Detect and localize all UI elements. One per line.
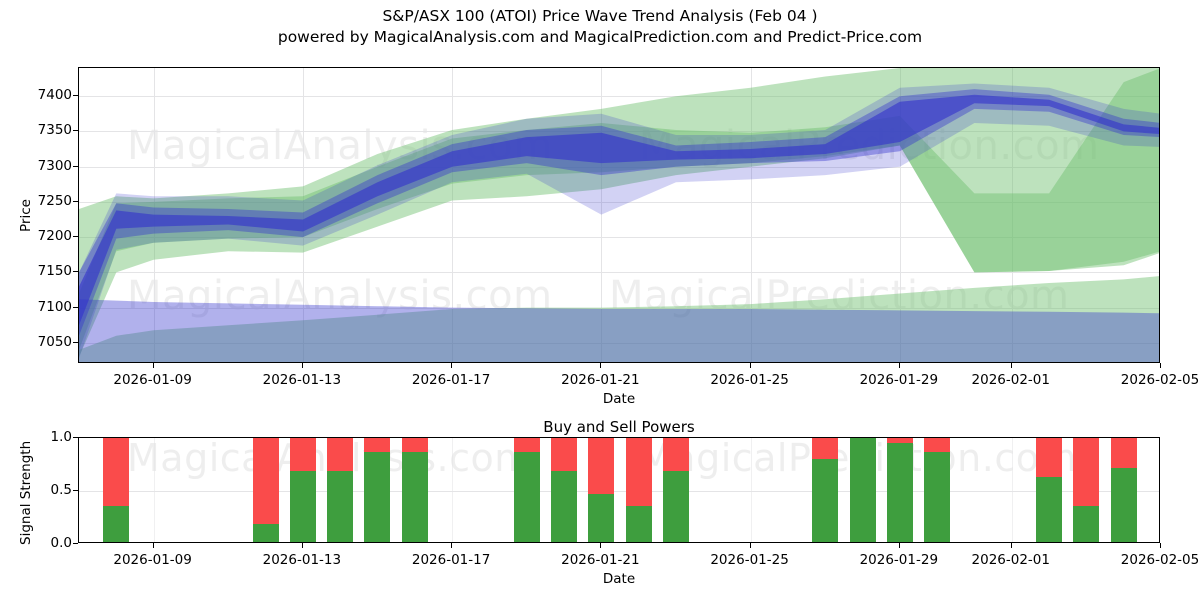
signal-bar[interactable] — [1073, 437, 1099, 542]
buy-power-segment — [1111, 468, 1137, 542]
sell-power-segment — [253, 437, 279, 524]
price-x-axis-label: Date — [603, 391, 635, 407]
buy-sell-y-tick-mark — [73, 543, 78, 544]
buy-power-segment — [663, 471, 689, 542]
signal-bar[interactable] — [588, 437, 614, 542]
price-x-tick-mark — [750, 363, 751, 368]
price-y-tick-mark — [73, 236, 78, 237]
buy-sell-x-tick-label: 2026-01-09 — [113, 552, 191, 568]
price-y-tick-mark — [73, 95, 78, 96]
price-x-tick-label: 2026-02-05 — [1121, 372, 1199, 388]
buy-power-segment — [290, 471, 316, 542]
buy-power-segment — [588, 494, 614, 542]
sell-power-segment — [364, 437, 390, 452]
buy-sell-x-tick-label: 2026-01-29 — [860, 552, 938, 568]
signal-bar[interactable] — [887, 437, 913, 542]
buy-power-segment — [103, 506, 129, 542]
buy-sell-vgridline — [1012, 438, 1013, 542]
price-x-tick-label: 2026-01-17 — [412, 372, 490, 388]
buy-power-segment — [924, 452, 950, 542]
buy-sell-x-tick-mark — [750, 543, 751, 548]
price-x-tick-label: 2026-02-01 — [972, 372, 1050, 388]
sell-power-segment — [514, 437, 540, 452]
signal-bar[interactable] — [402, 437, 428, 542]
signal-bar[interactable] — [1036, 437, 1062, 542]
buy-sell-x-axis-label: Date — [603, 571, 635, 587]
buy-sell-plot-frame: MagicalAnalysis.com MagicalPrediction.co… — [78, 437, 1160, 543]
sell-power-segment — [663, 437, 689, 471]
buy-sell-x-tick-mark — [451, 543, 452, 548]
price-x-tick-label: 2026-01-09 — [113, 372, 191, 388]
buy-sell-y-tick-mark — [73, 437, 78, 438]
signal-bar[interactable] — [812, 437, 838, 542]
buy-sell-y-tick-label: 1.0 — [51, 429, 72, 445]
price-x-tick-mark — [153, 363, 154, 368]
signal-bar[interactable] — [924, 437, 950, 542]
price-x-tick-label: 2026-01-13 — [263, 372, 341, 388]
buy-power-segment — [402, 452, 428, 542]
title-line-2: powered by MagicalAnalysis.com and Magic… — [0, 27, 1200, 48]
signal-bar[interactable] — [327, 437, 353, 542]
price-y-tick-mark — [73, 201, 78, 202]
signal-bar[interactable] — [626, 437, 652, 542]
buy-sell-x-tick-label: 2026-01-25 — [710, 552, 788, 568]
buy-sell-x-tick-mark — [153, 543, 154, 548]
price-x-tick-mark — [302, 363, 303, 368]
signal-bar[interactable] — [103, 437, 129, 542]
price-plot-frame: MagicalAnalysis.com MagicalPrediction.co… — [78, 67, 1160, 363]
sell-power-segment — [290, 437, 316, 471]
price-y-tick-label: 7050 — [38, 334, 72, 350]
price-y-tick-label: 7250 — [38, 193, 72, 209]
sell-power-segment — [626, 437, 652, 506]
sell-power-segment — [327, 437, 353, 471]
signal-bar[interactable] — [364, 437, 390, 542]
buy-sell-x-tick-mark — [899, 543, 900, 548]
signal-bar[interactable] — [514, 437, 540, 542]
buy-sell-y-tick-label: 0.5 — [51, 482, 72, 498]
buy-sell-x-tick-mark — [1160, 543, 1161, 548]
price-y-tick-mark — [73, 130, 78, 131]
buy-sell-x-tick-label: 2026-01-13 — [263, 552, 341, 568]
buy-power-segment — [887, 443, 913, 542]
price-y-tick-label: 7100 — [38, 299, 72, 315]
price-x-tick-mark — [1011, 363, 1012, 368]
buy-power-segment — [364, 452, 390, 542]
price-y-tick-label: 7150 — [38, 263, 72, 279]
price-x-tick-label: 2026-01-21 — [561, 372, 639, 388]
buy-sell-vgridline — [154, 438, 155, 542]
buy-sell-y-tick-mark — [73, 490, 78, 491]
buy-sell-vgridline — [751, 438, 752, 542]
price-y-tick-mark — [73, 271, 78, 272]
buy-sell-vgridline — [452, 438, 453, 542]
buy-sell-x-tick-mark — [302, 543, 303, 548]
signal-bar[interactable] — [253, 437, 279, 542]
price-chart-plot-area: MagicalAnalysis.com MagicalPrediction.co… — [78, 67, 1160, 363]
buy-sell-x-tick-label: 2026-02-05 — [1121, 552, 1199, 568]
sell-power-segment — [924, 437, 950, 452]
sell-power-segment — [402, 437, 428, 452]
buy-power-segment — [1073, 506, 1099, 542]
buy-power-segment — [812, 459, 838, 542]
price-y-tick-mark — [73, 166, 78, 167]
price-y-tick-label: 7200 — [38, 228, 72, 244]
buy-sell-plot-area: MagicalAnalysis.com MagicalPrediction.co… — [78, 437, 1160, 543]
signal-bar[interactable] — [551, 437, 577, 542]
price-y-tick-label: 7300 — [38, 158, 72, 174]
price-x-tick-mark — [899, 363, 900, 368]
buy-sell-subplot-title: Buy and Sell Powers — [543, 418, 694, 436]
signal-bar[interactable] — [1111, 437, 1137, 542]
buy-sell-x-tick-mark — [1011, 543, 1012, 548]
buy-power-segment — [327, 471, 353, 542]
price-x-tick-mark — [600, 363, 601, 368]
buy-power-segment — [514, 452, 540, 542]
buy-power-segment — [850, 437, 876, 542]
buy-sell-x-tick-label: 2026-01-21 — [561, 552, 639, 568]
price-y-axis-label: Price — [18, 199, 34, 232]
chart-page: S&P/ASX 100 (ATOI) Price Wave Trend Anal… — [0, 0, 1200, 600]
sell-power-segment — [1111, 437, 1137, 468]
buy-sell-x-tick-label: 2026-02-01 — [972, 552, 1050, 568]
price-x-tick-mark — [451, 363, 452, 368]
sell-power-segment — [812, 437, 838, 459]
signal-bar[interactable] — [663, 437, 689, 542]
sell-power-segment — [103, 437, 129, 506]
sell-power-segment — [1073, 437, 1099, 506]
price-x-tick-label: 2026-01-29 — [860, 372, 938, 388]
price-x-tick-label: 2026-01-25 — [710, 372, 788, 388]
price-y-tick-label: 7400 — [38, 87, 72, 103]
page-title: S&P/ASX 100 (ATOI) Price Wave Trend Anal… — [0, 6, 1200, 48]
buy-sell-y-axis-label: Signal Strength — [18, 441, 34, 545]
buy-sell-gridline — [79, 491, 1159, 492]
signal-bar[interactable] — [290, 437, 316, 542]
buy-power-segment — [551, 471, 577, 542]
buy-power-segment — [1036, 477, 1062, 542]
sell-power-segment — [588, 437, 614, 494]
buy-power-segment — [253, 524, 279, 542]
price-y-tick-mark — [73, 342, 78, 343]
title-line-1: S&P/ASX 100 (ATOI) Price Wave Trend Anal… — [0, 6, 1200, 27]
sell-power-segment — [1036, 437, 1062, 477]
price-y-tick-label: 7350 — [38, 122, 72, 138]
buy-sell-y-tick-label: 0.0 — [51, 535, 72, 551]
buy-sell-x-tick-label: 2026-01-17 — [412, 552, 490, 568]
price-wave-bands — [79, 68, 1160, 363]
buy-power-segment — [626, 506, 652, 542]
price-x-tick-mark — [1160, 363, 1161, 368]
price-y-tick-mark — [73, 307, 78, 308]
buy-sell-x-tick-mark — [600, 543, 601, 548]
sell-power-segment — [551, 437, 577, 471]
signal-bar[interactable] — [850, 437, 876, 542]
